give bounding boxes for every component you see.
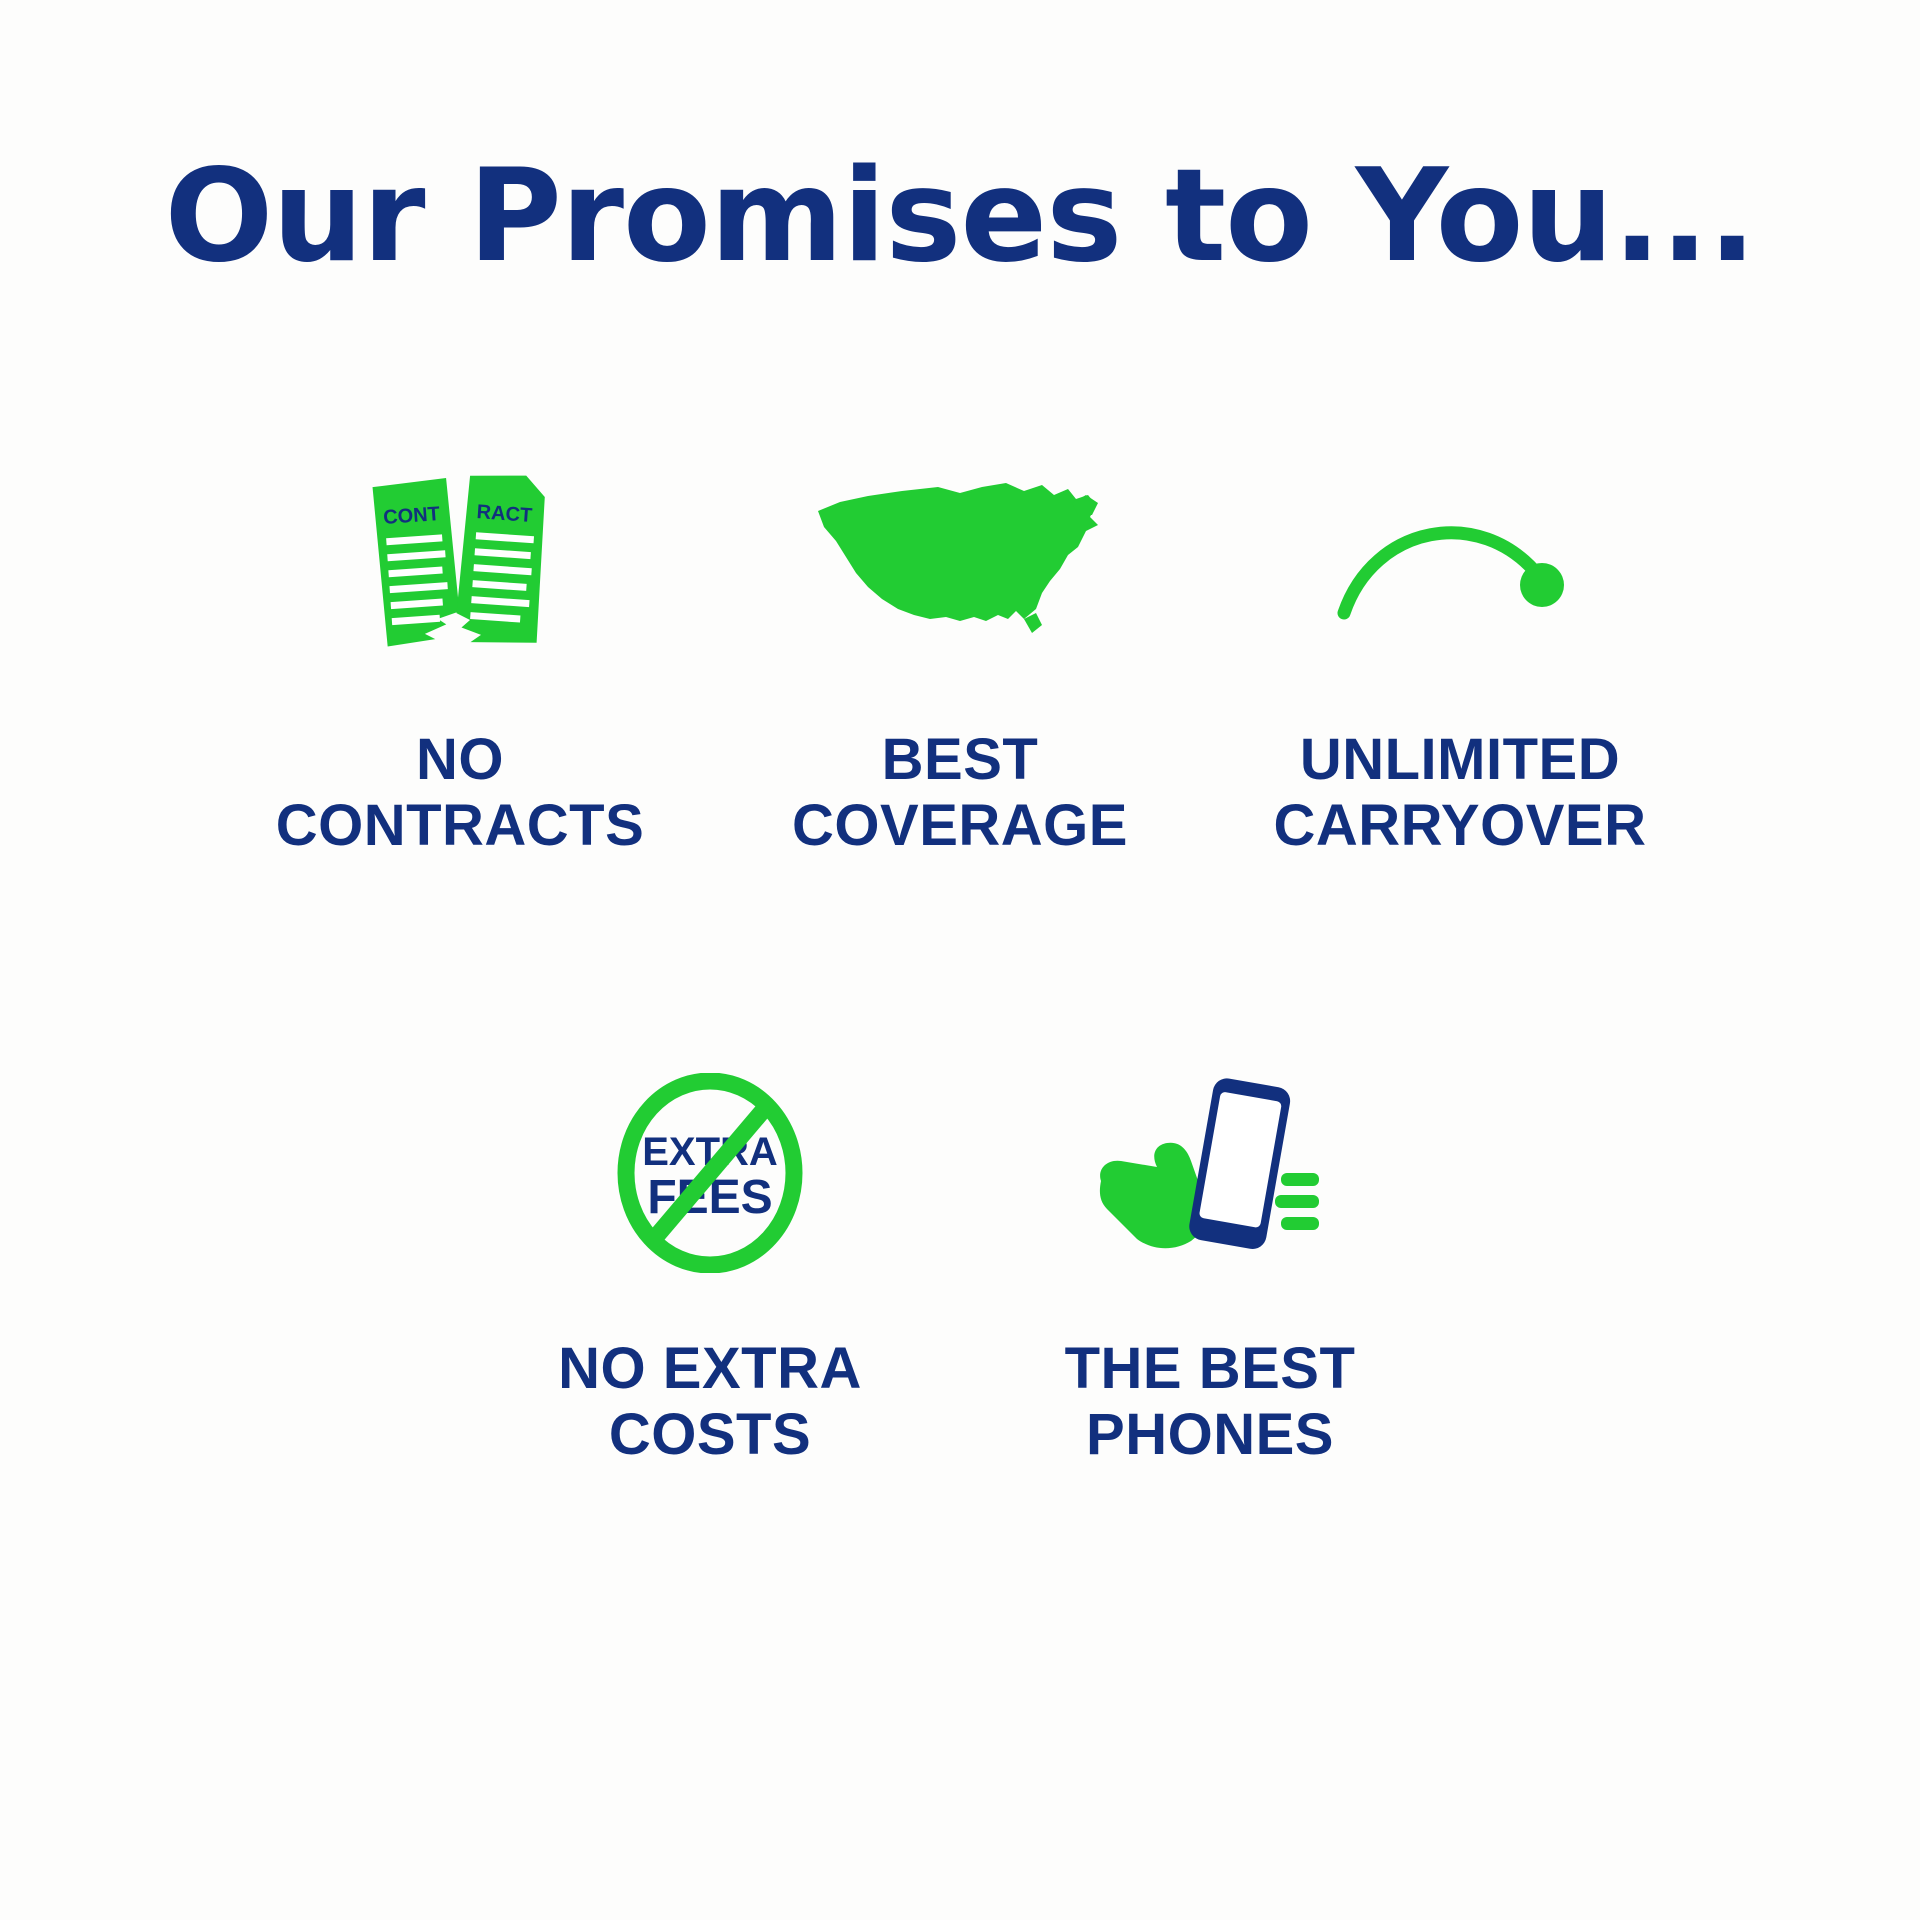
promise-no-contracts: CONT RACT NO CONTRACTS (210, 459, 710, 858)
hand-holding-phone-icon (1095, 1073, 1325, 1273)
contract-text-right: RACT (476, 501, 533, 527)
promise-label-line2: COVERAGE (792, 793, 1128, 859)
promise-label-line2: PHONES (1065, 1402, 1356, 1468)
no-extra-fees-icon: EXTRA FEES (610, 1073, 810, 1273)
promise-unlimited-carryover: UNLIMITED CARRYOVER (1210, 459, 1710, 858)
icon-container (1095, 1068, 1325, 1278)
promise-best-coverage: BEST COVERAGE (710, 459, 1210, 858)
usa-map-icon (810, 469, 1110, 659)
promise-label-line2: COSTS (558, 1402, 862, 1468)
contract-text-left: CONT (383, 503, 441, 529)
promise-no-extra-costs: EXTRA FEES NO EXTRA COSTS (460, 1068, 960, 1467)
promise-label-line1: THE BEST (1065, 1336, 1356, 1402)
icon-container (1330, 459, 1590, 669)
promise-label: NO EXTRA COSTS (558, 1336, 862, 1467)
torn-contract-icon: CONT RACT (360, 464, 560, 664)
promises-graphic: Our Promises to You... (0, 0, 1920, 1920)
promises-row-top: CONT RACT NO CONTRACTS BEST COVERAGE (0, 459, 1920, 858)
promise-label-line1: UNLIMITED (1274, 727, 1647, 793)
promise-the-best-phones: THE BEST PHONES (960, 1068, 1460, 1467)
promise-label-line1: NO EXTRA (558, 1336, 862, 1402)
promise-label-line1: BEST (792, 727, 1128, 793)
carryover-arc-icon (1330, 489, 1590, 639)
icon-container: EXTRA FEES (610, 1068, 810, 1278)
page-title: Our Promises to You... (164, 150, 1755, 284)
promise-label: THE BEST PHONES (1065, 1336, 1356, 1467)
promise-label-line2: CARRYOVER (1274, 793, 1647, 859)
icon-container: CONT RACT (360, 459, 560, 669)
promise-label: NO CONTRACTS (276, 727, 645, 858)
promise-label-line2: CONTRACTS (276, 793, 645, 859)
promise-label: BEST COVERAGE (792, 727, 1128, 858)
promise-label-line1: NO (276, 727, 645, 793)
promise-label: UNLIMITED CARRYOVER (1274, 727, 1647, 858)
promises-row-bottom: EXTRA FEES NO EXTRA COSTS (0, 1068, 1920, 1467)
icon-container (810, 459, 1110, 669)
